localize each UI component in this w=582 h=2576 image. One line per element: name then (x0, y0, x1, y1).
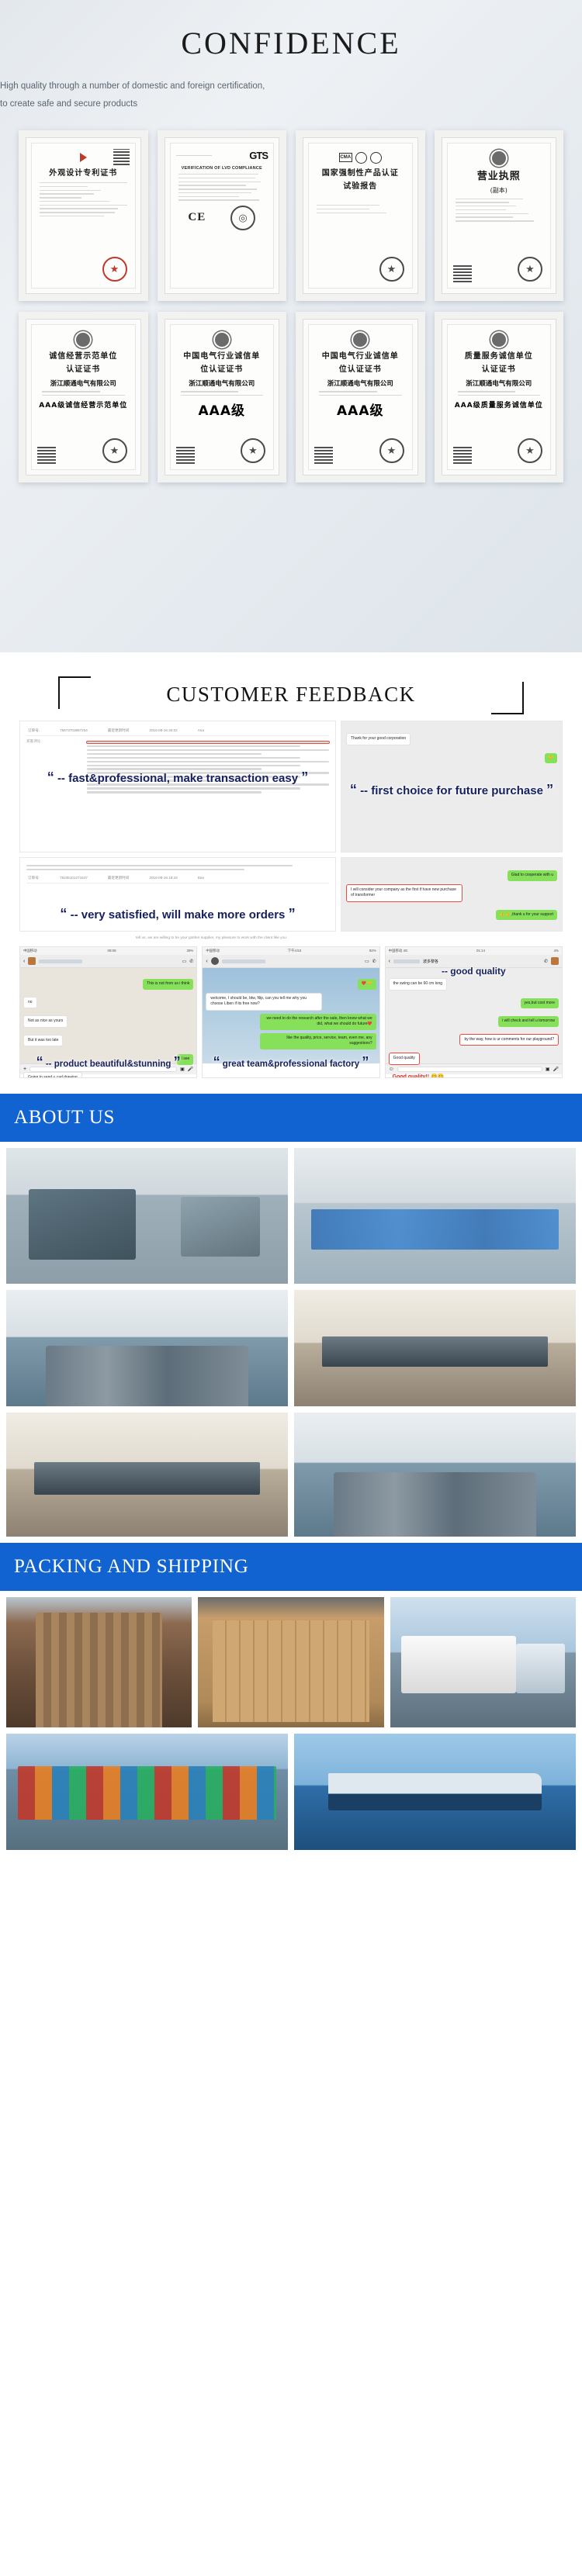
contact-name-blurred (393, 960, 420, 963)
qr-code-icon (453, 264, 472, 282)
avatar (28, 957, 36, 965)
chat-bubble: Not as nice as yours (23, 1015, 68, 1028)
back-chevron-icon[interactable]: ‹ (23, 959, 25, 964)
phone-status-bar: 中国移动 4G 01:14 4% (386, 947, 562, 955)
update-time: 2016-08-16 20:02 (149, 728, 177, 733)
shipping-photo-grid (6, 1734, 576, 1850)
quote-close-icon: ” (546, 782, 553, 797)
chat-bubble: like the quality, price, service, team, … (260, 1033, 376, 1049)
chat-bubble: we need to do the research after the sal… (260, 1014, 376, 1030)
feedback-quote-1: “ -- fast&professional, make transaction… (20, 769, 335, 786)
feedback-quote-4: “ -- product beautiful&stunning ” (20, 1054, 196, 1070)
certificate-lvd-compliance[interactable]: GTS VERIFICATION OF LVD COMPLIANCE CE ◎ (158, 130, 287, 301)
phone-status-bar: 中国移动 下午4:53 92% (203, 947, 379, 955)
chat-bubble: 🤝 (545, 753, 557, 764)
feedback-quote-5: “ great team&professional factory ” (203, 1054, 379, 1070)
update-time-label: 最近更新时间 (108, 728, 130, 733)
photo-smt-production-line[interactable] (6, 1148, 288, 1284)
certificate-subtitle: 认证证书 (453, 364, 546, 375)
order-meta-bar: 订单号: 75673703897204 最近更新时间 2016-08-16 20… (26, 726, 329, 736)
phone-screenshot-3[interactable]: 中国移动 4G 01:14 4% ‹ 波多黎各 ✆ the swing can … (385, 946, 563, 1078)
chat-bubble: no (23, 997, 37, 1009)
packing-shipping-banner: PACKING AND SHIPPING (0, 1543, 582, 1591)
review-continuation (26, 865, 329, 870)
update-time: 2016-08-16 18:43 (149, 876, 177, 880)
certificate-grid: 外观设计专利证书 ★ GTS VERIFICATION OF LVD COMPL… (19, 130, 563, 482)
certificate-paper: 诚信经营示范单位 认证证书 浙江顺通电气有限公司 AAA级诚信经营示范单位 ★ (31, 324, 136, 470)
corner-bracket-icon (58, 676, 91, 709)
chat-bubble: yes,but cost more (521, 998, 559, 1009)
chat-title: 波多黎各 (423, 959, 438, 964)
order-meta-bar: 订单号: 75235101271647 最近更新时间 2016-08-16 18… (26, 873, 329, 883)
qr-code-icon (176, 445, 195, 464)
about-us-title: ABOUT US (14, 1107, 115, 1129)
review-label: 买家评论 (26, 739, 81, 744)
chat-card-right[interactable]: Thank for your good corporation 🤝 “ -- f… (341, 721, 563, 852)
about-us-banner: ABOUT US (0, 1094, 582, 1142)
phone-screenshot-1[interactable]: 中国移动 08:08 39% ‹ ▭ ✆ This is not from us… (19, 946, 197, 1078)
review-body (87, 739, 329, 795)
chat-bubble: Glad to cooperate with u (508, 870, 557, 881)
certificate-subtitle: 位认证证书 (314, 364, 407, 375)
chat-bubble-highlighted: by the way, how is ur comments for our p… (459, 1034, 559, 1046)
avatar (551, 957, 559, 965)
phone-chat-body: the swing can be 60 cm long yes,but cost… (386, 968, 562, 1063)
chat-bubble: This is not from us i think (143, 979, 193, 990)
confidence-section: CONFIDENCE High qua (0, 0, 582, 652)
video-call-icon[interactable]: ▭ (182, 959, 187, 964)
gray-star-stamp: ★ (518, 438, 542, 463)
certificate-company: 浙江顺通电气有限公司 (314, 379, 407, 388)
quote-text: great team&professional factory (223, 1060, 359, 1069)
contact-name-blurred (39, 960, 82, 963)
certificate-fields (317, 205, 404, 213)
qr-code-icon (453, 445, 472, 464)
phone-call-icon[interactable]: ✆ (189, 959, 193, 964)
certificate-paper: 中国电气行业诚信单 位认证证书 浙江顺通电气有限公司 AAA级 ★ (308, 324, 413, 470)
gray-star-stamp: ★ (518, 257, 542, 282)
certificate-company: 浙江顺通电气有限公司 (37, 379, 130, 388)
order-number: 75235101271647 (60, 876, 88, 880)
credit-emblem-icon (74, 331, 92, 348)
feedback-row-top: 订单号: 75673703897204 最近更新时间 2016-08-16 20… (19, 721, 563, 852)
chat-bubble-highlighted: Good quality (389, 1053, 420, 1065)
certificate-grade: AAA级质量服务诚信单位 (453, 399, 546, 410)
certificate-ccc-test-report[interactable]: CMA 国家强制性产品认证 试验报告 ★ (296, 130, 425, 301)
update-time-label: 最近更新时间 (108, 876, 130, 880)
accreditation-marks: CMA (314, 150, 407, 165)
clock-label: 下午4:53 (288, 949, 301, 953)
phone-status-bar: 中国移动 08:08 39% (20, 947, 196, 955)
quote-text: -- very satisfied, will make more orders (71, 908, 286, 921)
chat-row: 🤝 (346, 749, 557, 764)
certificate-integrity-demo-unit[interactable]: 诚信经营示范单位 认证证书 浙江顺通电气有限公司 AAA级诚信经营示范单位 ★ (19, 312, 148, 482)
battery-label: 4% (554, 949, 559, 953)
clock-label: 01:14 (476, 949, 485, 953)
certificate-body-lines (176, 391, 268, 396)
certificate-paper: 质量服务诚信单位 认证证书 浙江顺通电气有限公司 AAA级质量服务诚信单位 ★ (447, 324, 552, 470)
packing-shipping-title: PACKING AND SHIPPING (14, 1556, 249, 1578)
qr-code-icon (113, 149, 130, 165)
certificate-subtitle: 认证证书 (37, 364, 130, 375)
phone-nav-bar[interactable]: ‹ ▭ ✆ (203, 955, 379, 968)
subtitle-line-1: High quality through a number of domesti… (0, 78, 582, 95)
qr-code-icon (314, 445, 333, 464)
corner-bracket-icon (491, 682, 524, 714)
certificate-paper: GTS VERIFICATION OF LVD COMPLIANCE CE ◎ (170, 143, 275, 289)
certificate-fields (178, 174, 266, 201)
phone-nav-bar[interactable]: ‹ ▭ ✆ (20, 955, 196, 968)
order-number-label: 订单号: (28, 876, 40, 880)
certificate-electrical-credit-aaa-2[interactable]: 中国电气行业诚信单 位认证证书 浙江顺通电气有限公司 AAA级 ★ (296, 312, 425, 482)
confidence-subtitle: High quality through a number of domesti… (0, 78, 582, 113)
photo-office-workstations[interactable] (6, 1412, 288, 1537)
certificate-grade: AAA级 (314, 399, 407, 419)
qr-code-icon (37, 445, 56, 464)
phone-call-icon[interactable]: ✆ (544, 959, 548, 964)
chat-row: Thank for your good corporation (346, 729, 557, 745)
order-number-label: 订单号: (28, 728, 40, 733)
quote-text: -- product beautiful&stunning (46, 1060, 171, 1069)
page-title: CONFIDENCE (181, 26, 400, 61)
certificate-title: 中国电气行业诚信单 (314, 351, 407, 362)
feedback-quote-2: “ -- first choice for future purchase ” (341, 782, 562, 798)
cma-mark-icon: CMA (339, 153, 352, 162)
carrier-label: 中国移动 (206, 949, 220, 953)
confidence-header: CONFIDENCE (0, 26, 582, 61)
gray-star-stamp: ★ (379, 257, 404, 282)
order-review-card-2[interactable]: 订单号: 75235101271647 最近更新时间 2016-08-16 18… (19, 857, 336, 932)
photo-cartons-in-container[interactable] (198, 1597, 383, 1727)
certificate-quality-service-aaa[interactable]: 质量服务诚信单位 认证证书 浙江顺通电气有限公司 AAA级质量服务诚信单位 ★ (435, 312, 564, 482)
microphone-icon[interactable]: 🎤 (553, 1067, 559, 1072)
chat-bubble: But it was too late (23, 1035, 63, 1047)
photo-cargo-ship-at-sea[interactable] (294, 1734, 576, 1850)
quote-text: -- first choice for future purchase (360, 784, 543, 797)
photo-showroom-meeting[interactable] (294, 1290, 576, 1406)
feedback-collage: 订单号: 75673703897204 最近更新时间 2016-08-16 20… (19, 721, 563, 1078)
customer-feedback-section: CUSTOMER FEEDBACK 订单号: 75673703897204 最近… (0, 652, 582, 1094)
feedback-quote-3: “ -- very satisfied, will make more orde… (20, 906, 335, 922)
feedback-header: CUSTOMER FEEDBACK (0, 673, 582, 716)
phone-chat-body: ❤️ 🤝 welcome, I should be, btw, filip, c… (203, 968, 379, 1063)
gray-star-stamp: ★ (241, 438, 265, 463)
certificate-design-patent[interactable]: 外观设计专利证书 ★ (19, 130, 148, 301)
certificate-grade: AAA级 (176, 399, 268, 419)
certificate-title: 质量服务诚信单位 (453, 351, 546, 362)
chat-row: Glad to cooperate with u (346, 866, 557, 881)
clock-label: 08:08 (108, 949, 116, 953)
gts-logo: GTS (249, 150, 268, 161)
photo-assembly-workshop[interactable] (294, 1148, 576, 1284)
about-us-photo-grid (6, 1148, 576, 1537)
quote-open-icon: “ (47, 769, 54, 785)
chat-bubble: Thank for your good corporation (346, 733, 411, 745)
certificate-paper: CMA 国家强制性产品认证 试验报告 ★ (308, 143, 413, 289)
carrier-label: 中国移动 (23, 949, 37, 953)
photo-team-with-clients[interactable] (6, 1290, 288, 1406)
certificate-title: 诚信经营示范单位 (37, 351, 130, 362)
chat-bubble-highlighted: I will consider your company as the firs… (346, 884, 462, 902)
certificate-body-lines (37, 391, 130, 396)
feedback-quote-6: -- good quality (386, 966, 562, 977)
video-call-icon[interactable]: ▭ (365, 959, 369, 964)
certificate-paper: 外观设计专利证书 ★ (31, 143, 136, 289)
quote-close-icon: ” (362, 1054, 369, 1070)
red-round-stamp: ★ (102, 257, 127, 282)
chat-bubble: Going to send u cad drawing (23, 1072, 82, 1079)
reviewer-name: Dan (198, 876, 204, 880)
quote-open-icon: “ (350, 782, 357, 797)
certificate-title: VERIFICATION OF LVD COMPLIANCE (176, 166, 268, 171)
certificate-title: 营业执照 (453, 169, 546, 185)
chat-bubble: welcome, I should be, btw, filip, can yo… (206, 993, 322, 1011)
gray-star-stamp: ★ (379, 438, 404, 463)
back-chevron-icon[interactable]: ‹ (206, 959, 207, 964)
certificate-subtitle: 位认证证书 (176, 364, 268, 375)
certificate-electrical-credit-aaa-1[interactable]: 中国电气行业诚信单 位认证证书 浙江顺通电气有限公司 AAA级 ★ (158, 312, 287, 482)
reviewer-name: Ana (198, 728, 204, 733)
certificate-subtitle: (副本) (453, 186, 546, 195)
feedback-row-phones: 中国移动 08:08 39% ‹ ▭ ✆ This is not from us… (19, 946, 563, 1078)
cnas-mark-icon (370, 152, 382, 164)
chat-bubble: ❤️ 🤝 (358, 979, 376, 990)
order-number: 75673703897204 (60, 728, 88, 733)
back-chevron-icon[interactable]: ‹ (389, 959, 390, 964)
emoji-icon[interactable]: ☺ (389, 1067, 394, 1072)
chat-card-transformer[interactable]: Glad to cooperate with u I will consider… (341, 857, 563, 932)
feedback-row-middle: 订单号: 75235101271647 最近更新时间 2016-08-16 18… (19, 857, 563, 932)
credit-emblem-icon (352, 331, 369, 348)
certificate-title: 国家强制性产品认证 (314, 168, 407, 179)
certificate-body-lines (453, 391, 546, 396)
quote-close-icon: ” (174, 1054, 181, 1070)
national-emblem-icon (490, 150, 508, 167)
certificate-paper: 中国电气行业诚信单 位认证证书 浙江顺通电气有限公司 AAA级 ★ (170, 324, 275, 470)
photo-container-yard-truck[interactable] (6, 1734, 288, 1850)
gray-star-stamp: ★ (102, 438, 127, 463)
chat-row: 👍 👍 ,thank u for your support (346, 905, 557, 921)
subtitle-line-2: to create safe and secure products (0, 95, 582, 113)
quote-open-icon: “ (60, 906, 67, 921)
certificate-title: 中国电气行业诚信单 (176, 351, 268, 362)
packing-photo-grid (6, 1597, 576, 1727)
quote-text: -- good quality (442, 966, 506, 977)
certificate-company: 浙江顺通电气有限公司 (453, 379, 546, 388)
photo-open-plan-office[interactable] (294, 1412, 576, 1537)
certificate-body-lines (314, 391, 407, 396)
phone-screenshot-2[interactable]: 中国移动 下午4:53 92% ‹ ▭ ✆ ❤️ 🤝 welcome, I sh… (202, 946, 379, 1078)
gts-seal-icon: ◎ (230, 206, 255, 230)
order-review-card-1[interactable]: 订单号: 75673703897204 最近更新时间 2016-08-16 20… (19, 721, 336, 852)
certificate-company: 浙江顺通电气有限公司 (176, 379, 268, 388)
certificate-fields (40, 182, 127, 216)
contact-name-blurred (222, 960, 265, 963)
quote-close-icon: ” (301, 769, 308, 785)
quote-text: -- fast&professional, make transaction e… (57, 772, 298, 785)
credit-emblem-icon (213, 331, 230, 348)
chat-bubble: the swing can be 60 cm long (389, 978, 447, 991)
certificate-paper: 营业执照 (副本) ★ (447, 143, 552, 289)
credit-emblem-icon (490, 331, 508, 348)
chat-bubble: 👍 👍 ,thank u for your support (496, 910, 557, 921)
certificate-fields (456, 199, 543, 222)
feedback-title: CUSTOMER FEEDBACK (166, 683, 415, 706)
quote-open-icon: “ (36, 1054, 43, 1070)
message-input[interactable] (397, 1067, 542, 1072)
cnas-round-icon (355, 152, 367, 164)
camera-icon[interactable]: ▣ (546, 1067, 550, 1072)
chat-bubble: i will check and tell u tomorrow (498, 1016, 559, 1027)
supplier-note: tell us, we are willing to be your golde… (19, 936, 563, 940)
phone-call-icon[interactable]: ✆ (372, 959, 376, 964)
photo-loaded-container-interior[interactable] (6, 1597, 192, 1727)
certificate-subtitle: 试验报告 (314, 181, 407, 192)
phone-chat-body: This is not from us i think no Not as ni… (20, 968, 196, 1063)
avatar (211, 957, 219, 965)
certificate-business-license[interactable]: 营业执照 (副本) ★ (435, 130, 564, 301)
certificate-title: 外观设计专利证书 (37, 168, 130, 179)
photo-delivery-truck-at-port[interactable] (390, 1597, 576, 1727)
battery-label: 39% (187, 949, 194, 953)
chat-row: I will consider your company as the firs… (346, 884, 557, 902)
ce-mark-icon: CE (188, 211, 206, 224)
quote-open-icon: “ (213, 1054, 220, 1070)
carrier-label: 中国移动 4G (389, 949, 408, 953)
certificate-grade: AAA级诚信经营示范单位 (37, 399, 130, 410)
battery-label: 92% (369, 949, 376, 953)
quote-close-icon: ” (289, 906, 296, 921)
